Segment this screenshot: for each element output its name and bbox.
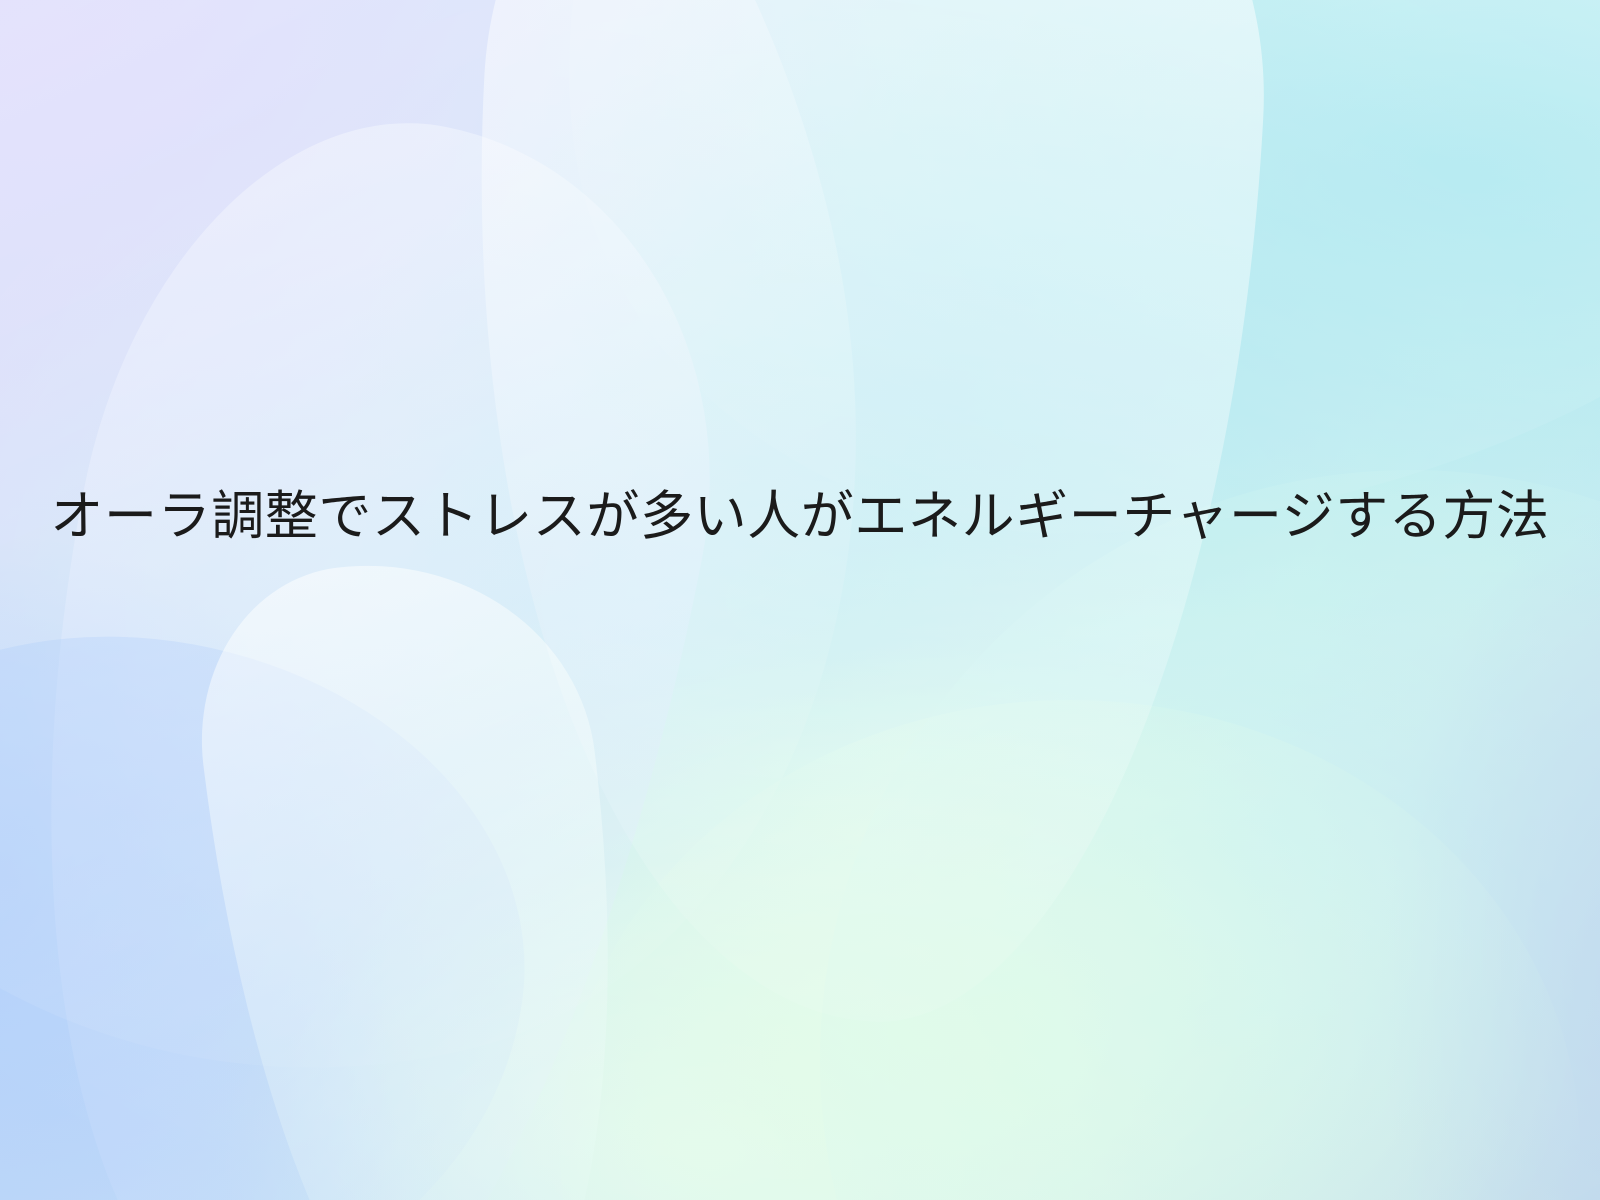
background-right-blue-sliver: [0, 0, 1600, 1200]
background-mint-glow: [0, 0, 1600, 1200]
decorative-shape-mint-dome: [560, 700, 1580, 1200]
decorative-shape-blue-leaf: [0, 591, 565, 1200]
decorative-shape-upper-left-petal: [0, 0, 994, 1193]
slide-canvas: オーラ調整でストレスが多い人がエネルギーチャージする方法: [0, 0, 1600, 1200]
background-cyan-sweep: [0, 0, 1600, 1200]
decorative-shape-right-aqua-dome: [820, 470, 1600, 1200]
slide-title: オーラ調整でストレスが多い人がエネルギーチャージする方法: [46, 476, 1554, 559]
decorative-shape-left-wedge-petal: [0, 72, 774, 1200]
background-softening-overlay: [0, 0, 1600, 1200]
background-periwinkle-blob: [0, 0, 1600, 1200]
decorative-shape-diagonal-light-band: [181, 539, 668, 1200]
title-block: オーラ調整でストレスが多い人がエネルギーチャージする方法: [0, 476, 1600, 559]
background-base-gradient: [0, 0, 1600, 1200]
